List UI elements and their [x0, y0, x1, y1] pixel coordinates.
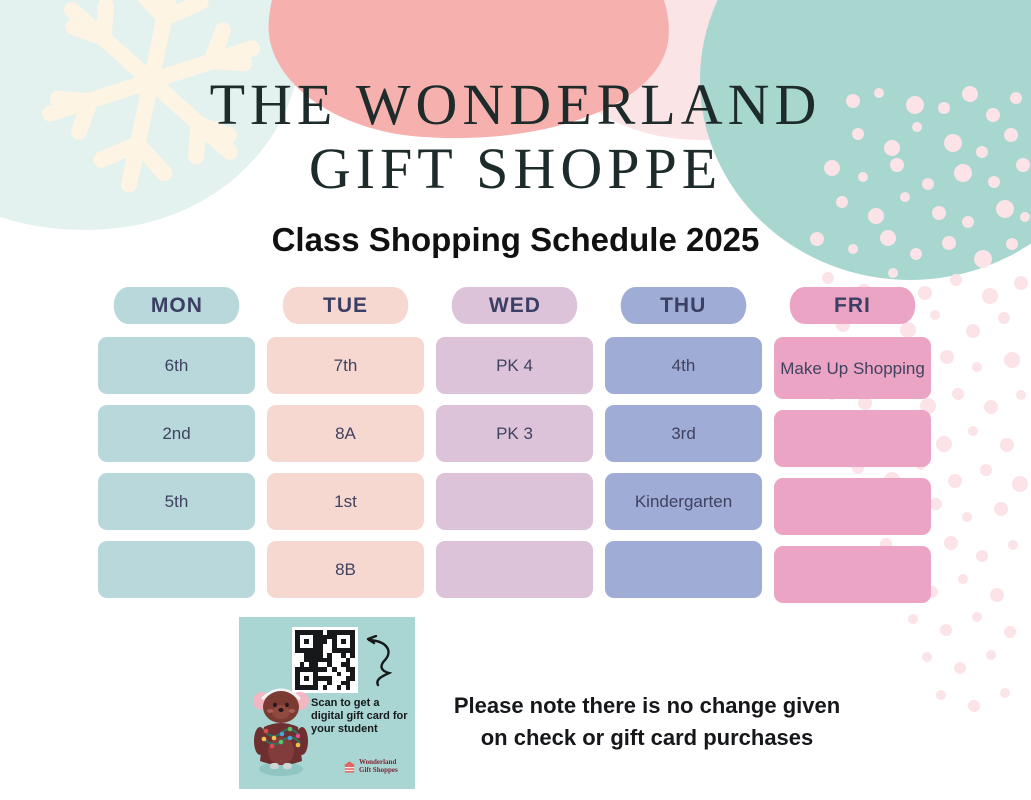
schedule-cell: PK 4 — [436, 337, 593, 394]
confetti-dot — [1000, 438, 1014, 452]
confetti-dot — [1004, 626, 1016, 638]
schedule-cell: Make Up Shopping — [774, 337, 931, 399]
confetti-dot — [980, 464, 992, 476]
confetti-dot — [990, 588, 1004, 602]
poster-canvas: THE WONDERLAND GIFT SHOPPE Class Shoppin… — [0, 0, 1031, 800]
brand-line-2: Gift Shoppes — [359, 767, 398, 775]
day-header-label: MON — [151, 294, 203, 318]
wonderland-logo: Wonderland Gift Shoppes — [343, 759, 398, 774]
page-title: THE WONDERLAND GIFT SHOPPE — [0, 76, 1031, 198]
confetti-dot — [962, 512, 972, 522]
confetti-dot — [1016, 390, 1026, 400]
confetti-dot — [888, 268, 898, 278]
policy-note-line-2: on check or gift card purchases — [440, 722, 854, 754]
schedule-cell: 8A — [267, 405, 424, 462]
confetti-dot — [932, 206, 946, 220]
schedule-cell: 8B — [267, 541, 424, 598]
schedule-grid: MON6th2nd5thTUE7th8A1st8BWEDPK 4PK 3THU4… — [98, 287, 931, 614]
confetti-dot — [998, 312, 1010, 324]
schedule-cell-empty — [774, 478, 931, 535]
schedule-cell: 5th — [98, 473, 255, 530]
confetti-dot — [976, 550, 988, 562]
qr-module — [350, 685, 355, 690]
confetti-dot — [968, 700, 980, 712]
day-header-mon: MON — [114, 287, 240, 324]
schedule-cell: 2nd — [98, 405, 255, 462]
confetti-dot — [972, 612, 982, 622]
curved-arrow-icon — [365, 635, 401, 687]
confetti-dot — [944, 536, 958, 550]
title-line-1: THE WONDERLAND — [0, 76, 1031, 134]
schedule-cell: PK 3 — [436, 405, 593, 462]
schedule-cell: 1st — [267, 473, 424, 530]
confetti-dot — [922, 652, 932, 662]
policy-note-line-1: Please note there is no change given — [440, 690, 854, 722]
schedule-cell-empty — [774, 410, 931, 467]
confetti-dot — [984, 400, 998, 414]
confetti-dot — [996, 200, 1014, 218]
schedule-column-thu: THU4th3rdKindergarten — [605, 287, 762, 614]
confetti-dot — [950, 274, 962, 286]
day-header-label: FRI — [834, 294, 871, 318]
day-header-label: TUE — [323, 294, 368, 318]
schedule-cell: 4th — [605, 337, 762, 394]
confetti-dot — [986, 650, 996, 660]
confetti-dot — [940, 350, 954, 364]
confetti-dot — [972, 362, 982, 372]
confetti-dot — [952, 388, 964, 400]
schedule-cell: Kindergarten — [605, 473, 762, 530]
confetti-dot — [930, 310, 940, 320]
policy-note: Please note there is no change given on … — [440, 690, 854, 754]
confetti-dot — [966, 324, 980, 338]
confetti-dot — [908, 614, 918, 624]
schedule-cell-empty — [436, 541, 593, 598]
confetti-dot — [1000, 688, 1010, 698]
day-header-label: THU — [660, 294, 706, 318]
confetti-dot — [982, 288, 998, 304]
confetti-dot — [930, 498, 942, 510]
confetti-dot — [968, 426, 978, 436]
bear-illustration — [248, 679, 314, 777]
confetti-dot — [1004, 352, 1020, 368]
schedule-column-fri: FRIMake Up Shopping — [774, 287, 931, 614]
schedule-cell: 7th — [267, 337, 424, 394]
confetti-dot — [940, 624, 952, 636]
schedule-cell: 6th — [98, 337, 255, 394]
confetti-dot — [936, 436, 952, 452]
page-subtitle: Class Shopping Schedule 2025 — [0, 221, 1031, 259]
confetti-dot — [954, 662, 966, 674]
schedule-cell-empty — [774, 546, 931, 603]
schedule-cell: 3rd — [605, 405, 762, 462]
gift-card-promo-card[interactable]: Scan to get a digital gift card for your… — [239, 617, 415, 789]
day-header-label: WED — [489, 294, 541, 318]
schedule-column-mon: MON6th2nd5th — [98, 287, 255, 614]
confetti-dot — [958, 574, 968, 584]
schedule-cell-empty — [605, 541, 762, 598]
confetti-dot — [936, 690, 946, 700]
title-line-2: GIFT SHOPPE — [0, 140, 1031, 198]
confetti-dot — [994, 502, 1008, 516]
confetti-dot — [1008, 540, 1018, 550]
schedule-cell-empty — [98, 541, 255, 598]
confetti-dot — [822, 272, 834, 284]
day-header-tue: TUE — [283, 287, 409, 324]
schedule-cell-empty — [436, 473, 593, 530]
day-header-fri: FRI — [790, 287, 916, 324]
confetti-dot — [1012, 476, 1028, 492]
shop-building-icon — [343, 760, 356, 774]
day-header-wed: WED — [452, 287, 578, 324]
schedule-column-tue: TUE7th8A1st8B — [267, 287, 424, 614]
day-header-thu: THU — [621, 287, 747, 324]
schedule-column-wed: WEDPK 4PK 3 — [436, 287, 593, 614]
qr-instruction-text: Scan to get a digital gift card for your… — [311, 697, 411, 736]
confetti-dot — [1014, 276, 1028, 290]
confetti-dot — [948, 474, 962, 488]
